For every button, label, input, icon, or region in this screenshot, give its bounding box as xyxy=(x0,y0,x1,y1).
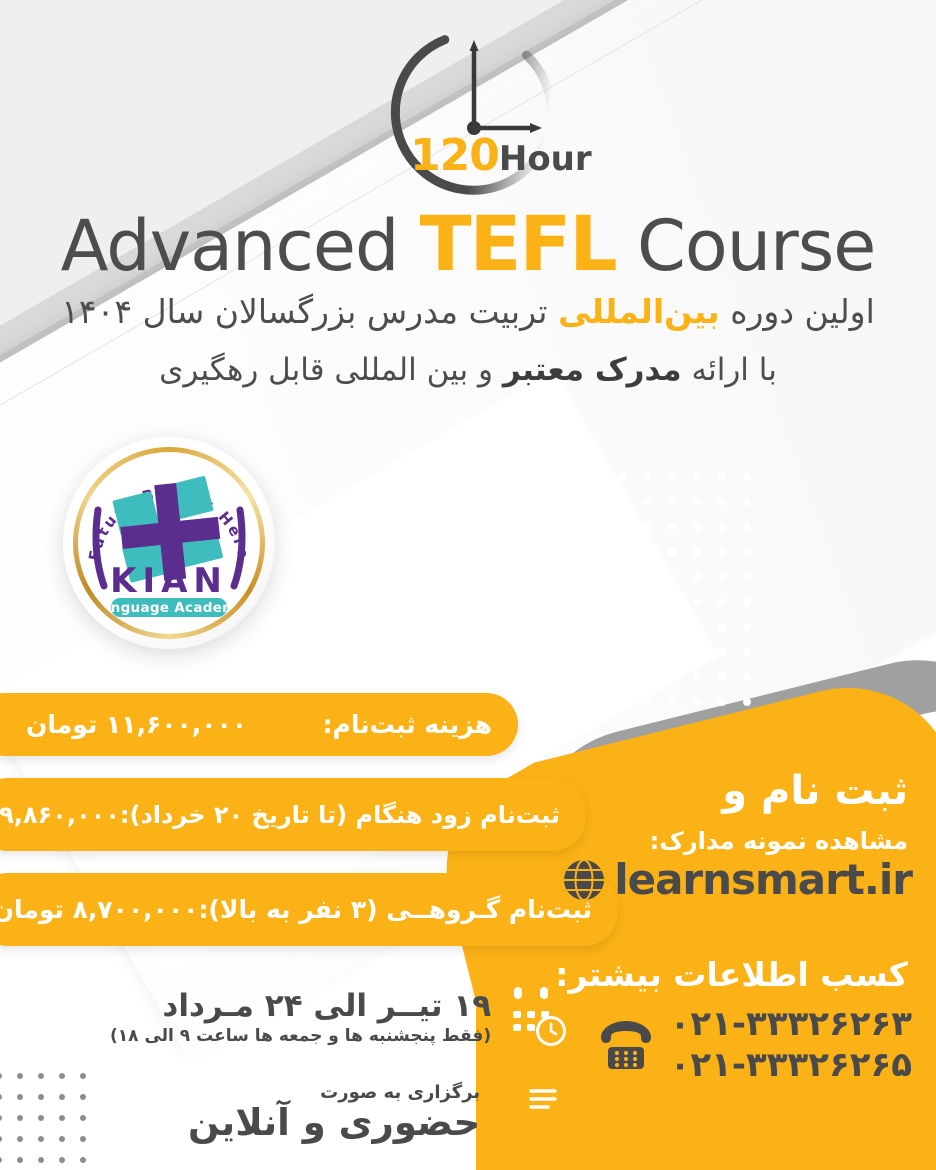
price-label: ثبت‌نام گـروهــی (۳ نفر به بالا): xyxy=(198,895,592,924)
schedule-dates: ۱۹ تیــر الی ۲۴ مـرداد xyxy=(110,988,491,1024)
price-amount: ۱۱,۶۰۰,۰۰۰ تومان xyxy=(26,710,247,739)
globe-icon xyxy=(562,858,606,902)
poster-root: 120Hour Advanced TEFL Course اولین دوره … xyxy=(0,0,936,1170)
schedule-row: ۱۹ تیــر الی ۲۴ مـرداد (فقط پنجشنبه ها و… xyxy=(110,985,569,1049)
subtitle1-part-b: تربیت مدرس بزرگسالان سال ۱۴۰۴ xyxy=(61,292,558,331)
register-heading: ثبت نام و xyxy=(722,768,908,814)
logo-graphic-icon: Future Begins Here KIAN Language Academy xyxy=(78,452,260,634)
price-pill-standard: هزینه ثبت‌نام: ۱۱,۶۰۰,۰۰۰ تومان xyxy=(0,693,518,756)
price-amount: ۹,۸۶۰,۰۰۰ تومان xyxy=(0,801,120,829)
page-title: Advanced TEFL Course xyxy=(0,204,936,284)
website-row[interactable]: learnsmart.ir xyxy=(562,858,912,902)
logo-gold-ring: Future Begins Here KIAN Language Academy xyxy=(73,447,265,639)
price-label: ثبت‌نام زود هنگام (تا تاریخ ۲۰ خرداد): xyxy=(120,801,560,829)
price-label: هزینه ثبت‌نام: xyxy=(323,710,493,739)
logo-inner-disc: Future Begins Here KIAN Language Academy xyxy=(78,452,260,634)
schedule-note: (فقط پنجشنبه ها و جمعه ها ساعت ۹ الی ۱۸) xyxy=(110,1026,491,1046)
clock-hours-unit: Hour xyxy=(499,139,592,179)
dot-grid-upper xyxy=(568,473,768,723)
phone-block: ۰۲۱-۳۳۳۲۶۲۶۳ ۰۲۱-۳۳۳۲۶۲۶۵ xyxy=(596,1005,912,1085)
clock-hours-number: 120 xyxy=(410,130,499,181)
website-url[interactable]: learnsmart.ir xyxy=(614,859,912,901)
subtitle2-part-a: با ارائه xyxy=(682,352,777,388)
title-highlight: TEFL xyxy=(420,199,616,288)
price-amount: ۸,۷۰۰,۰۰۰ تومان xyxy=(0,895,198,924)
schedule-text: ۱۹ تیــر الی ۲۴ مـرداد (فقط پنجشنبه ها و… xyxy=(110,988,491,1046)
telephone-icon xyxy=(596,1017,656,1073)
clock-hours-text: 120Hour xyxy=(410,134,550,178)
price-pill-group: ثبت‌نام گـروهــی (۳ نفر به بالا): ۸,۷۰۰,… xyxy=(0,873,618,946)
delivery-mode-prefix: برگزاری به صورت xyxy=(188,1082,480,1103)
phone-number[interactable]: ۰۲۱-۳۳۳۲۶۲۶۳ xyxy=(670,1005,912,1044)
delivery-mode-text: برگزاری به صورت حضوری و آنلاین xyxy=(188,1082,480,1144)
delivery-mode-row: برگزاری به صورت حضوری و آنلاین xyxy=(188,1078,564,1148)
phone-number[interactable]: ۰۲۱-۳۳۳۲۶۲۶۵ xyxy=(670,1046,912,1085)
subtitle2-bold: مدرک معتبر xyxy=(503,352,682,388)
price-pill-early-bird: ثبت‌نام زود هنگام (تا تاریخ ۲۰ خرداد): ۹… xyxy=(0,778,586,851)
subtitle1-highlight: بین‌المللی xyxy=(558,292,720,331)
title-prefix: Advanced xyxy=(61,205,420,287)
title-suffix: Course xyxy=(616,205,876,287)
teacher-presentation-icon xyxy=(490,1078,564,1148)
subtitle-line-2: با ارائه مدرک معتبر و بین المللی قابل ره… xyxy=(0,352,936,388)
subtitle-line-1: اولین دوره بین‌المللی تربیت مدرس بزرگسال… xyxy=(0,292,936,331)
svg-text:KIAN: KIAN xyxy=(110,561,228,601)
register-subheading: مشاهده نمونه مدارک: xyxy=(650,827,908,855)
delivery-mode-value: حضوری و آنلاین xyxy=(188,1101,480,1144)
more-info-heading: کسب اطلاعات بیشتر: xyxy=(555,955,908,994)
kian-academy-logo: Future Begins Here KIAN Language Academy xyxy=(63,437,275,649)
calendar-clock-icon xyxy=(503,985,569,1049)
dot-grid-lower xyxy=(0,1073,101,1170)
svg-text:Language Academy: Language Academy xyxy=(92,600,245,616)
clock-badge: 120Hour xyxy=(384,22,564,197)
phone-numbers-list: ۰۲۱-۳۳۳۲۶۲۶۳ ۰۲۱-۳۳۳۲۶۲۶۵ xyxy=(670,1005,912,1085)
subtitle1-part-a: اولین دوره xyxy=(720,292,875,331)
subtitle2-part-b: و بین المللی قابل رهگیری xyxy=(159,352,503,388)
